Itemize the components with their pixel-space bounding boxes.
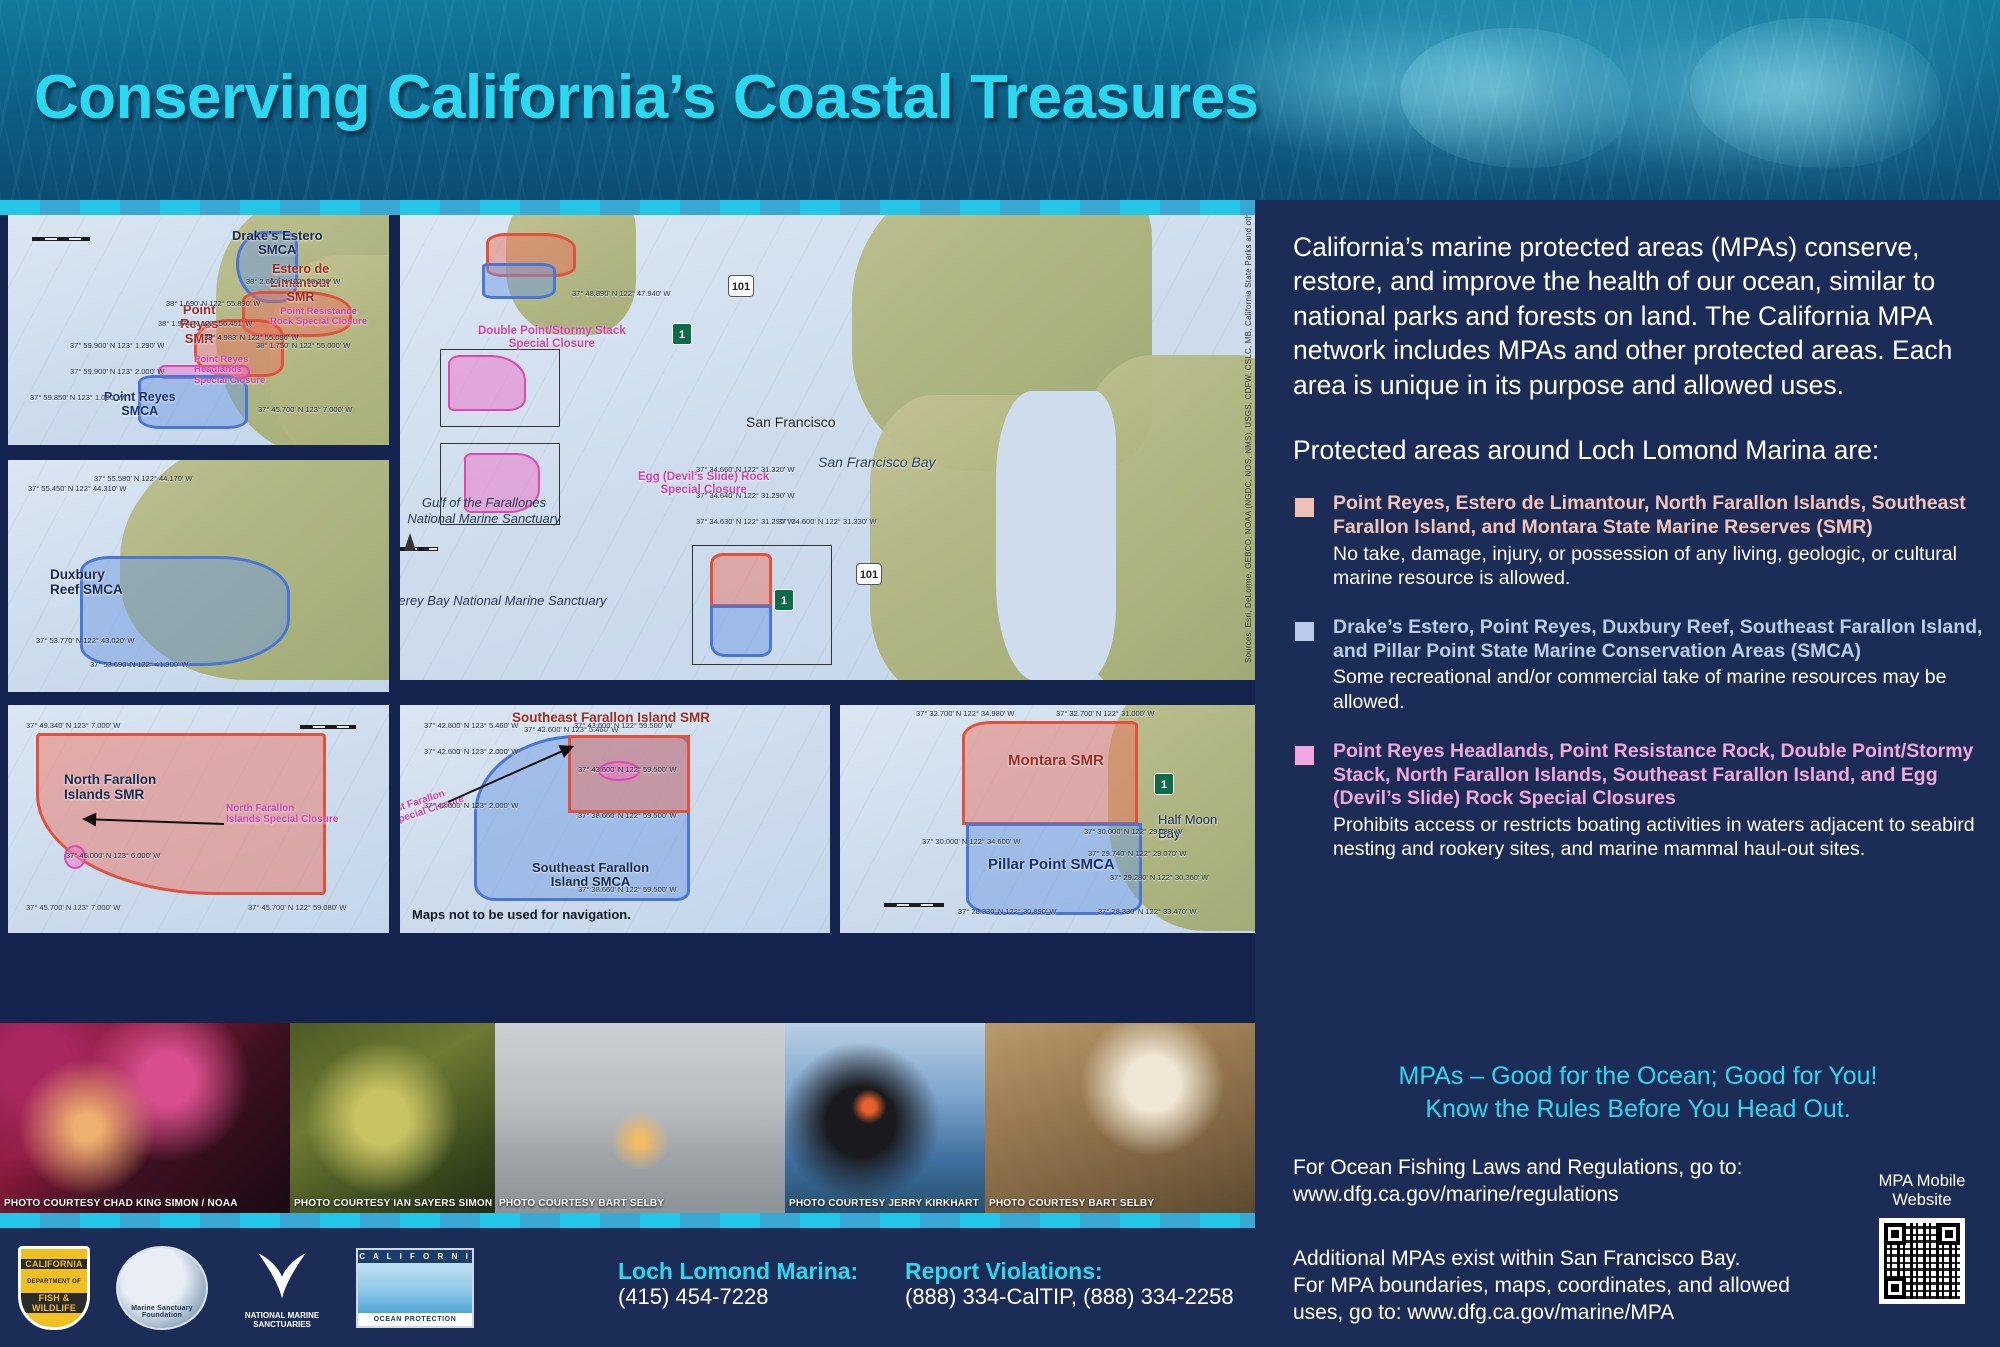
label-city-san-francisco: San Francisco (746, 415, 835, 430)
qr-eye-bottom-left (1884, 1277, 1906, 1299)
map-north-farallon[interactable]: North Farallon Islands SMR North Farallo… (8, 705, 389, 933)
violations-phone[interactable]: (888) 334-CalTIP, (888) 334-2258 (905, 1284, 1234, 1310)
photo-fishing-boat: PHOTO COURTESY BART SELBY (495, 1023, 785, 1213)
label-monterey-sanctuary: Monterey Bay National Marine Sanctuary (400, 593, 638, 609)
coordinate-label: 37° 45.700' N 123° 7.000' W (26, 903, 120, 912)
swatch-special-closure-icon (1295, 746, 1314, 765)
slogan-line-1: MPAs – Good for the Ocean; Good for You! (1293, 1060, 1983, 1093)
qr-eye-top-right (1938, 1223, 1960, 1245)
additional-line-3[interactable]: uses, go to: www.dfg.ca.gov/marine/MPA (1293, 1300, 1923, 1327)
info-panel: California’s marine protected areas (MPA… (1255, 200, 2000, 1347)
coordinate-label: 37° 45.700' N 123° 7.000' W (258, 405, 352, 414)
coordinate-label: 38° 1.750' N 122° 55.000' W (256, 341, 350, 350)
highway-shield-1: 1 (672, 323, 692, 345)
highway-shield-101: 101 (728, 275, 754, 297)
photo-nudibranch: PHOTO COURTESY IAN SAYERS SIMON / NOAA (290, 1023, 495, 1213)
photo-strip: PHOTO COURTESY CHAD KING SIMON / NOAA PH… (0, 1023, 1255, 1213)
coordinate-label: 37° 42.600' N 123° 5.460' W (424, 721, 518, 730)
map-label-drakes-estero: Drake’s Estero SMCA (232, 229, 323, 258)
coordinate-label: 38° 2.660' N 122° 56.250' W (246, 277, 340, 286)
coordinate-label: 37° 53.770' N 122° 43.020' W (36, 636, 135, 645)
navigation-disclaimer: Maps not to be used for navigation. (412, 907, 631, 922)
photo-rockfish: PHOTO COURTESY CHAD KING SIMON / NOAA (0, 1023, 290, 1213)
photo-caption: PHOTO COURTESY BART SELBY (989, 1198, 1154, 1209)
map-label-duxbury-reef: Duxbury Reef SMCA (50, 568, 123, 598)
slogan-block: MPAs – Good for the Ocean; Good for You!… (1293, 1060, 1983, 1125)
north-arrow-icon (404, 533, 416, 551)
intro-paragraph: California’s marine protected areas (MPA… (1293, 230, 1983, 402)
map-duxbury-reef[interactable]: Duxbury Reef SMCA 37° 55.580' N 122° 44.… (8, 460, 389, 692)
label-san-francisco-bay: San Francisco Bay (818, 455, 936, 470)
coordinate-label: 37° 49.340' N 123° 7.000' W (26, 721, 120, 730)
mpa-mobile-website-block[interactable]: MPA Mobile Website (1863, 1172, 1981, 1304)
divider-stripe-bottom (0, 1213, 1255, 1228)
violations-label: Report Violations: (905, 1258, 1234, 1284)
smr-title: Point Reyes, Estero de Limantour, North … (1333, 492, 1985, 540)
map-attribution: Sources: Esri, DeLorme, GEBCO, NOAA (NGD… (1244, 233, 1253, 663)
smca-description: Some recreational and/or commercial take… (1333, 665, 1985, 713)
photo-caption: PHOTO COURTESY JERRY KIRKHART (789, 1198, 979, 1209)
highway-shield-101-south: 101 (856, 563, 882, 585)
coordinate-label: 37° 32.700' N 122° 34.980' W (916, 709, 1015, 718)
label-gulf-farallones-sanctuary: Gulf of the Farallones National Marine S… (400, 495, 574, 528)
swatch-smca-icon (1295, 622, 1314, 641)
coordinate-label: 37° 42.600' N 123° 2.000' W (424, 747, 518, 756)
list-item-special-closure: Point Reyes Headlands, Point Resistance … (1285, 740, 1985, 862)
qr-code-pattern (1884, 1223, 1960, 1299)
coordinate-label: 37° 46.000' N 123° 6.000' W (66, 851, 160, 860)
map-label-north-farallon-closure: North Farallon Islands Special Closure (226, 803, 338, 825)
special-closure-title: Point Reyes Headlands, Point Resistance … (1333, 740, 1985, 811)
highway-shield-1: 1 (1154, 773, 1174, 795)
coordinate-label: 37° 59.850' N 123° 1.000' W (30, 393, 124, 402)
list-item-smr: Point Reyes, Estero de Limantour, North … (1285, 492, 1985, 590)
coordinate-label: 38° 1.974' N 122° 56.451' W (158, 319, 252, 328)
coordinate-label: 37° 43.600' N 122° 59.500' W (574, 721, 673, 730)
mpa-montara-smr (962, 721, 1138, 825)
coordinate-label: 37° 48.890' N 122° 47.940' W (572, 289, 671, 298)
contact-report-violations: Report Violations: (888) 334-CalTIP, (88… (905, 1258, 1234, 1311)
msf-logo-text: Marine Sanctuary Foundation (118, 1305, 206, 1319)
poster-footer: CALIFORNIA DEPARTMENT OF FISH & WILDLIFE… (0, 1228, 1255, 1347)
whale-tail-icon (234, 1246, 330, 1304)
coordinate-label: 37° 38.660' N 122° 59.500' W (578, 811, 677, 820)
map-montara-pillar-point[interactable]: Montara SMR Pillar Point SMCA Half Moon … (840, 705, 1255, 933)
marina-label: Loch Lomond Marina: (618, 1258, 858, 1284)
opc-logo-bottom-text: OCEAN PROTECTION COUNCIL (358, 1313, 472, 1326)
coordinate-label: 37° 59.900' N 123° 1.290' W (70, 341, 164, 350)
coordinate-label: 37° 38.660' N 122° 59.500' W (578, 885, 677, 894)
map-label-montara-smr: Montara SMR (1008, 753, 1104, 770)
coordinate-label: 37° 32.700' N 122° 31.000' W (1056, 709, 1155, 718)
map-label-north-farallon-smr: North Farallon Islands SMR (64, 773, 156, 803)
coordinate-label: 37° 30.000' N 122° 29.030' W (1084, 827, 1183, 836)
additional-mpas-block: Additional MPAs exist within San Francis… (1293, 1246, 1923, 1327)
additional-line-2: For MPA boundaries, maps, coordinates, a… (1293, 1273, 1923, 1300)
special-closure-description: Prohibits access or restricts boating ac… (1333, 813, 1985, 861)
protected-areas-subhead: Protected areas around Loch Lomond Marin… (1293, 435, 1983, 466)
qr-eye-top-left (1884, 1223, 1906, 1245)
map-collection: Drake’s Estero SMCA Estero de Limantour … (0, 215, 1255, 1010)
coordinate-label: 37° 28.330' N 122° 30.890' W (958, 907, 1057, 916)
cdfw-logo: CALIFORNIA DEPARTMENT OF FISH & WILDLIFE (18, 1246, 90, 1330)
coordinate-label: 37° 29.740' N 122° 29.070' W (1088, 849, 1187, 858)
contact-loch-lomond-marina: Loch Lomond Marina: (415) 454-7228 (618, 1258, 858, 1311)
cdfw-logo-line1: CALIFORNIA (21, 1259, 87, 1269)
mpa-montara-inset (710, 553, 772, 607)
poster-header: Conserving California’s Coastal Treasure… (0, 0, 2000, 200)
coordinate-label: 37° 43.600' N 122° 59.500' W (578, 765, 677, 774)
slogan-line-2: Know the Rules Before You Head Out. (1293, 1093, 1983, 1126)
photo-caption: PHOTO COURTESY CHAD KING SIMON / NOAA (4, 1198, 238, 1209)
map-label-double-point-closure: Double Point/Stormy Stack Special Closur… (478, 325, 626, 350)
national-marine-sanctuaries-logo: NATIONAL MARINE SANCTUARIES (234, 1246, 330, 1330)
logo-row: CALIFORNIA DEPARTMENT OF FISH & WILDLIFE… (18, 1246, 474, 1330)
coordinate-label: 37° 42.600' N 123° 2.000' W (424, 801, 518, 810)
mpa-inset-point-reyes-smca (482, 263, 556, 299)
coordinate-label: 37° 53.690' N 122° 41.900' W (90, 660, 189, 669)
photo-oystercatcher-bird: PHOTO COURTESY JERRY KIRKHART (785, 1023, 985, 1213)
nms-logo-text: NATIONAL MARINE SANCTUARIES (234, 1311, 330, 1330)
san-francisco-bay-water (996, 391, 1116, 680)
scale-bar (32, 237, 90, 241)
mpa-pillar-point-inset (710, 605, 772, 657)
coordinate-label: 37° 45.700' N 122° 59.080' W (248, 903, 347, 912)
coordinate-label: 37° 34.660' N 122° 31.320' W (696, 465, 795, 474)
coordinate-label: 37° 59.900' N 123° 2.000' W (70, 367, 164, 376)
coordinate-label: 37° 30.000' N 122° 34.600' W (922, 837, 1021, 846)
marine-sanctuary-foundation-logo: Marine Sanctuary Foundation (116, 1246, 208, 1330)
opc-logo-top-text: C A L I F O R N I A (358, 1250, 472, 1263)
ocean-protection-council-logo: C A L I F O R N I A OCEAN PROTECTION COU… (356, 1248, 474, 1328)
coordinate-label: 37° 34.640' N 122° 31.290' W (696, 491, 795, 500)
map-label-point-resistance-closure: Point Resistance Rock Special Closure (270, 307, 367, 328)
marina-phone[interactable]: (415) 454-7228 (618, 1284, 858, 1310)
opc-logo-artwork (358, 1263, 472, 1313)
mpa-category-list: Point Reyes, Estero de Limantour, North … (1285, 492, 1985, 888)
coordinate-label: 37° 34.600' N 122° 31.330' W (778, 517, 877, 526)
page-title: Conserving California’s Coastal Treasure… (34, 62, 1259, 133)
cdfw-logo-line3: FISH & WILDLIFE (21, 1293, 87, 1313)
coordinate-label: 38° 1.690' N 122° 55.890' W (166, 299, 260, 308)
poster-root: Conserving California’s Coastal Treasure… (0, 0, 2000, 1347)
map-southeast-farallon[interactable]: Southeast Farallon Island SMR Southeast … (400, 705, 830, 933)
qr-label: MPA Mobile Website (1863, 1172, 1981, 1211)
scale-bar (300, 725, 356, 729)
swatch-smr-icon (1295, 498, 1314, 517)
coordinate-label: 37° 29.280' N 122° 30.360' W (1110, 873, 1209, 882)
cdfw-logo-line2: DEPARTMENT OF (21, 1279, 87, 1285)
coordinate-label: 37° 55.450' N 122° 44.310' W (28, 484, 127, 493)
map-central-overview[interactable]: Double Point/Stormy Stack Special Closur… (400, 215, 1255, 680)
map-label-point-reyes-headlands-closure: Point Reyes Headlands Special Closure (194, 355, 265, 386)
scale-bar (884, 903, 944, 907)
photo-sea-lions: PHOTO COURTESY BART SELBY (985, 1023, 1255, 1213)
qr-code-icon[interactable] (1879, 1218, 1965, 1304)
map-label-pillar-point-smca: Pillar Point SMCA (988, 857, 1115, 874)
additional-line-1: Additional MPAs exist within San Francis… (1293, 1246, 1923, 1273)
smr-description: No take, damage, injury, or possession o… (1333, 542, 1985, 590)
map-point-reyes[interactable]: Drake’s Estero SMCA Estero de Limantour … (8, 215, 389, 445)
list-item-smca: Drake’s Estero, Point Reyes, Duxbury Ree… (1285, 616, 1985, 714)
coordinate-label: 37° 55.580' N 122° 44.170' W (94, 474, 193, 483)
smca-title: Drake’s Estero, Point Reyes, Duxbury Ree… (1333, 616, 1985, 664)
mpa-double-point-closure (448, 355, 526, 411)
highway-shield-1-south: 1 (774, 589, 794, 611)
photo-caption: PHOTO COURTESY IAN SAYERS SIMON / NOAA (294, 1198, 495, 1209)
photo-caption: PHOTO COURTESY BART SELBY (499, 1198, 664, 1209)
coordinate-label: 37° 28.330' N 122° 33.470' W (1098, 907, 1197, 916)
